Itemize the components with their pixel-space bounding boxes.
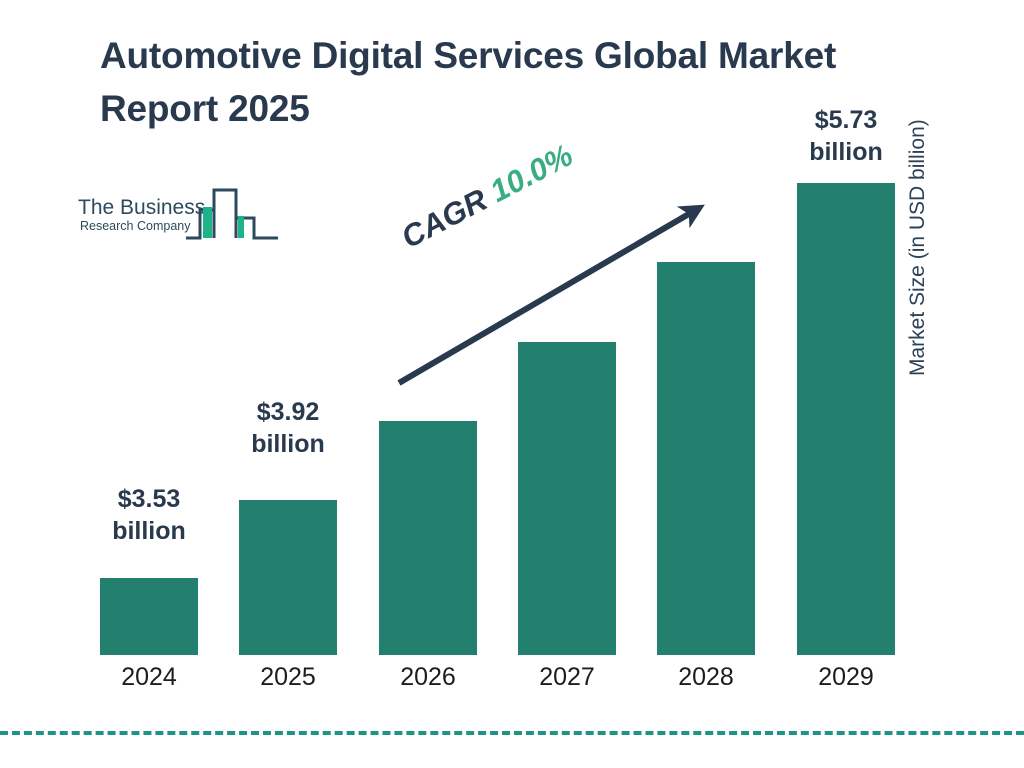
bar-2025 bbox=[239, 500, 337, 655]
xtick-2027: 2027 bbox=[518, 663, 616, 692]
bar-2024 bbox=[100, 578, 198, 655]
cagr-label: CAGR bbox=[396, 182, 493, 255]
bar-value-2029: $5.73 billion bbox=[786, 104, 906, 168]
xtick-2024: 2024 bbox=[100, 663, 198, 692]
bar-2026 bbox=[379, 421, 477, 655]
bar-2028 bbox=[657, 262, 755, 655]
xtick-2026: 2026 bbox=[379, 663, 477, 692]
plot-area: $3.53 billion $3.92 billion $5.73 billio… bbox=[0, 0, 1024, 768]
xtick-2028: 2028 bbox=[657, 663, 755, 692]
cagr-value: 10.0% bbox=[484, 137, 578, 209]
bar-value-2025: $3.92 billion bbox=[228, 396, 348, 460]
xtick-2025: 2025 bbox=[239, 663, 337, 692]
chart-canvas: Automotive Digital Services Global Marke… bbox=[0, 0, 1024, 768]
bar-2027 bbox=[518, 342, 616, 655]
y-axis-title: Market Size (in USD billion) bbox=[906, 46, 930, 376]
xtick-2029: 2029 bbox=[797, 663, 895, 692]
bottom-divider bbox=[0, 731, 1024, 735]
bar-value-2024: $3.53 billion bbox=[89, 483, 209, 547]
bar-2029 bbox=[797, 183, 895, 655]
cagr-annotation: CAGR 10.0% bbox=[396, 137, 579, 256]
